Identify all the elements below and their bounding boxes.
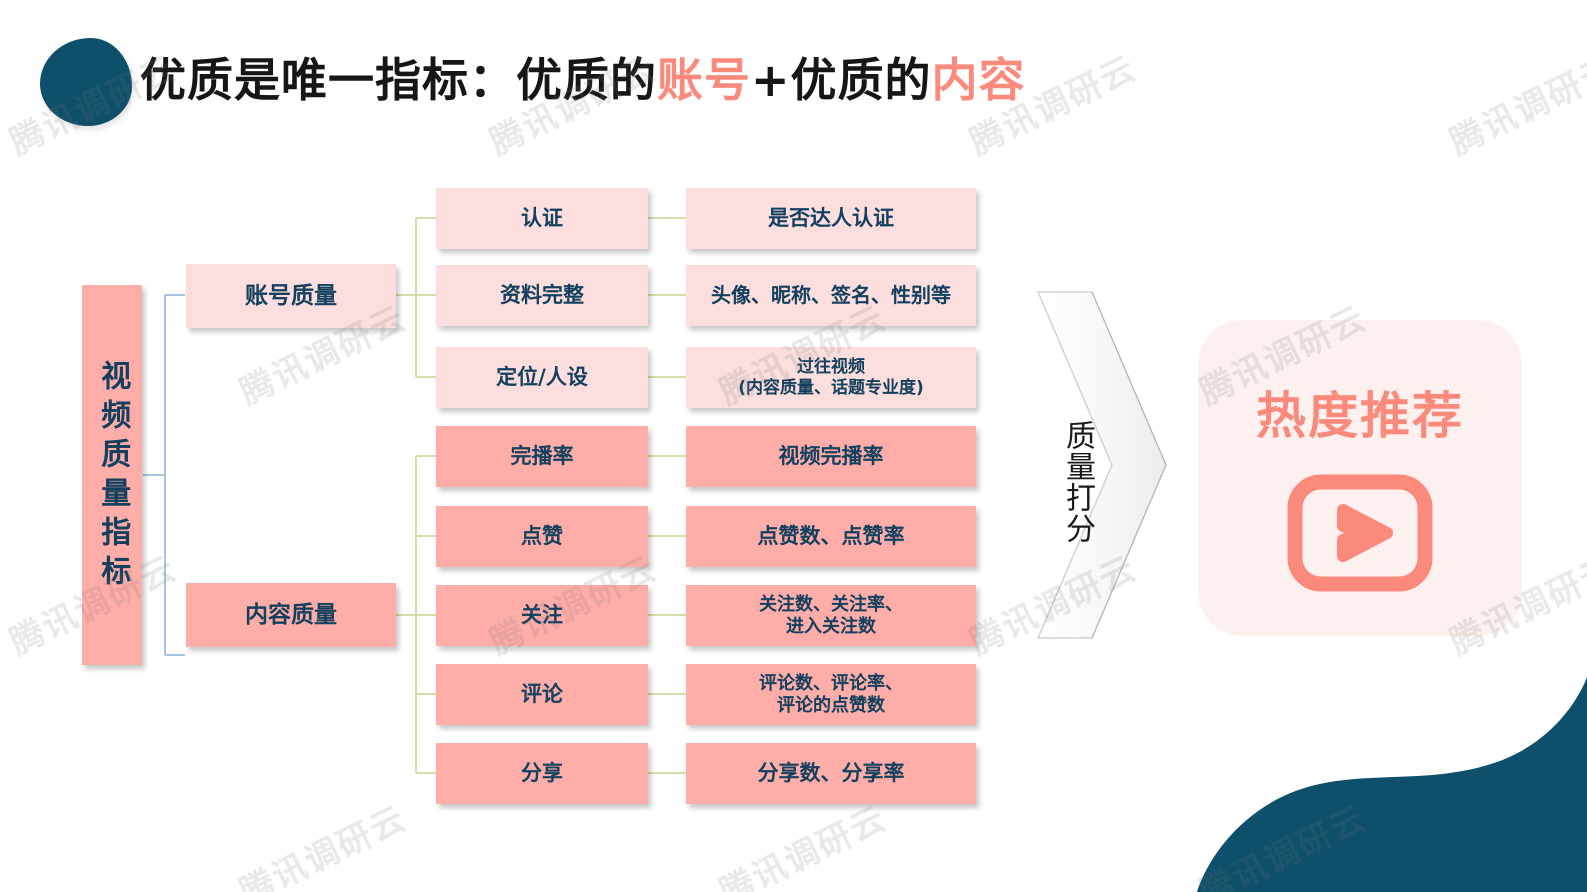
- detail-node-label: 视频完播率: [779, 444, 884, 470]
- root-node-label: 视频质量指标: [94, 360, 131, 594]
- leaf-node-label: 认证: [521, 206, 563, 232]
- leaf-node-label: 完播率: [511, 444, 574, 470]
- leaf-node-share[interactable]: 分享: [436, 743, 648, 804]
- detail-node-label: 是否达人认证: [768, 206, 894, 232]
- leaf-node-positioning-persona[interactable]: 定位/人设: [436, 347, 648, 408]
- title-middle: +优质的: [751, 53, 932, 107]
- arrow-label-text: 质量打分: [1060, 420, 1095, 544]
- detail-node-comments[interactable]: 评论数、评论率、 评论的点赞数: [686, 664, 976, 725]
- branch-node-label: 账号质量: [245, 282, 337, 310]
- leaf-node-follow[interactable]: 关注: [436, 585, 648, 646]
- result-card-hot-recommendation[interactable]: 热度推荐: [1198, 320, 1522, 636]
- detail-node-profile-complete[interactable]: 头像、昵称、签名、性别等: [686, 265, 976, 326]
- detail-node-label: 头像、昵称、签名、性别等: [711, 283, 951, 307]
- leaf-node-certification[interactable]: 认证: [436, 188, 648, 249]
- leaf-node-label: 分享: [521, 761, 563, 787]
- detail-node-label: 关注数、关注率、 进入关注数: [759, 594, 903, 638]
- detail-node-follow[interactable]: 关注数、关注率、 进入关注数: [686, 585, 976, 646]
- leaf-node-label: 点赞: [521, 524, 563, 550]
- detail-node-share[interactable]: 分享数、分享率: [686, 743, 976, 804]
- detail-node-positioning-persona[interactable]: 过往视频 (内容质量、话题专业度): [686, 347, 976, 408]
- result-card-title: 热度推荐: [1256, 376, 1464, 448]
- slide-canvas: 优质是唯一指标：优质的账号+优质的内容: [0, 0, 1587, 892]
- branch-node-label: 内容质量: [245, 601, 337, 629]
- title-highlight-content: 内容: [932, 53, 1026, 107]
- detail-node-likes[interactable]: 点赞数、点赞率: [686, 506, 976, 567]
- root-node-video-quality[interactable]: 视频质量指标: [82, 285, 142, 665]
- leaf-node-label: 定位/人设: [496, 365, 588, 391]
- leaf-node-profile-complete[interactable]: 资料完整: [436, 265, 648, 326]
- detail-node-label: 分享数、分享率: [758, 761, 905, 787]
- leaf-node-label: 评论: [521, 682, 563, 708]
- leaf-node-label: 关注: [521, 603, 563, 629]
- title-highlight-account: 账号: [657, 53, 751, 107]
- play-video-icon: [1287, 474, 1433, 592]
- detail-node-certification[interactable]: 是否达人认证: [686, 188, 976, 249]
- detail-node-label: 评论数、评论率、 评论的点赞数: [759, 673, 903, 717]
- detail-node-label: 点赞数、点赞率: [758, 524, 905, 550]
- detail-node-completion-rate[interactable]: 视频完播率: [686, 426, 976, 487]
- leaf-node-label: 资料完整: [500, 283, 584, 309]
- page-title: 优质是唯一指标：优质的账号+优质的内容: [140, 44, 1026, 110]
- arrow-label: 质量打分: [1055, 420, 1099, 544]
- leaf-node-likes[interactable]: 点赞: [436, 506, 648, 567]
- leaf-node-completion-rate[interactable]: 完播率: [436, 426, 648, 487]
- branch-node-account-quality[interactable]: 账号质量: [186, 264, 396, 328]
- branch-node-content-quality[interactable]: 内容质量: [186, 583, 396, 647]
- leaf-node-comments[interactable]: 评论: [436, 664, 648, 725]
- title-prefix: 优质是唯一指标：优质的: [140, 53, 657, 107]
- detail-node-label: 过往视频 (内容质量、话题专业度): [738, 357, 924, 398]
